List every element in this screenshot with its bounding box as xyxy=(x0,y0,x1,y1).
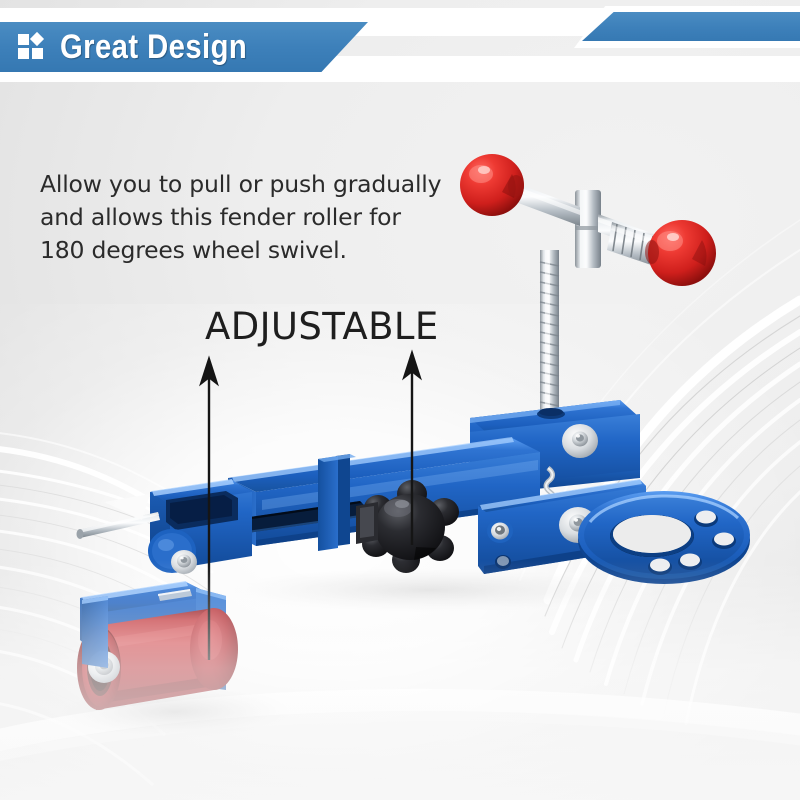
cross-pin xyxy=(77,512,161,539)
roller-shadow xyxy=(60,686,290,738)
right-plate xyxy=(470,414,640,496)
star-knob xyxy=(356,480,459,573)
background-glow xyxy=(0,304,800,800)
knob-collar xyxy=(356,502,378,544)
header-right-blue-bar xyxy=(582,12,800,41)
swoosh-highlight-streak xyxy=(0,432,210,523)
t-cross-block xyxy=(575,190,601,268)
roller-wheel xyxy=(77,608,238,710)
top-mount-plate xyxy=(470,400,640,480)
left-collar xyxy=(150,479,252,570)
link-plate xyxy=(478,479,646,574)
t-handle-bar xyxy=(497,176,580,226)
roller-side-plate-right xyxy=(196,588,226,690)
description-text: Allow you to pull or push gradually and … xyxy=(40,168,440,267)
arrow-left xyxy=(200,357,218,660)
four-squares-icon xyxy=(18,33,48,61)
coil-spring xyxy=(546,468,555,504)
description-line-2: and allows this fender roller for xyxy=(40,201,440,234)
adjustable-callout-label: ADJUSTABLE xyxy=(205,305,439,348)
t-handle-bar-right xyxy=(598,214,660,254)
red-ball-knob-right xyxy=(645,220,716,286)
four-squares-icon-top-left xyxy=(18,34,29,45)
t-handle-assembly xyxy=(460,154,716,412)
roller-hub-bolt xyxy=(88,651,120,683)
main-body xyxy=(77,400,641,574)
description-line-3: 180 degrees wheel swivel. xyxy=(40,234,440,267)
mounting-plate xyxy=(578,491,750,584)
roller-assembly xyxy=(77,581,238,710)
description-line-1: Allow you to pull or push gradually xyxy=(40,168,440,201)
threaded-screw xyxy=(540,250,559,412)
swoosh-ground-curve xyxy=(0,700,800,758)
bolt-washer xyxy=(562,424,598,458)
header-banner: Great Design xyxy=(0,0,800,96)
beam-shadow xyxy=(230,568,630,612)
swoosh-right-fan xyxy=(500,220,800,724)
four-squares-icon-bottom-left xyxy=(18,48,29,59)
pivot-bolt xyxy=(148,529,197,574)
knurled-collar xyxy=(607,222,665,268)
plate-bolt-holes xyxy=(648,511,736,576)
roller-bracket xyxy=(80,581,214,654)
slide-slot xyxy=(243,501,364,533)
four-squares-icon-bottom-right xyxy=(32,48,43,59)
pin-backing-wedge xyxy=(104,494,150,520)
red-ball-knob-left xyxy=(460,154,524,216)
background-swoosh-lines xyxy=(0,0,800,800)
inner-tube-step xyxy=(318,454,356,551)
four-squares-icon-diamond xyxy=(30,32,44,46)
main-beam xyxy=(228,437,540,546)
swoosh-left-fan xyxy=(0,470,215,784)
header-title: Great Design xyxy=(60,22,247,72)
arrow-right xyxy=(403,351,421,545)
roller-cover-strip xyxy=(82,596,108,668)
callout-arrows xyxy=(200,351,421,660)
background-sheen xyxy=(0,560,800,800)
mounting-plate-group xyxy=(478,468,750,584)
product-photo xyxy=(0,0,800,800)
product-feature-poster: Great Design Allow you to pull or push g… xyxy=(0,0,800,800)
